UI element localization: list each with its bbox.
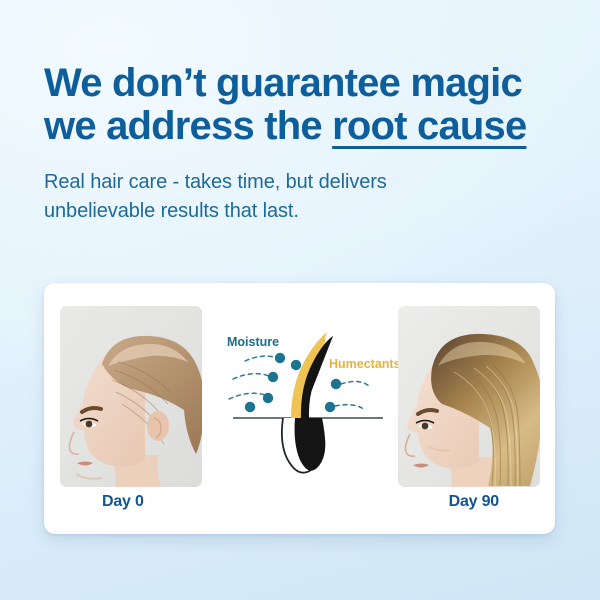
after-photo-graphic xyxy=(398,306,540,487)
after-photo-panel xyxy=(398,306,540,487)
before-photo-panel xyxy=(60,306,202,487)
before-day-label: Day 0 xyxy=(102,493,144,511)
moisture-label: Moisture xyxy=(227,335,279,349)
follicle-diagram-graphic: Moisture Humectants xyxy=(217,306,398,487)
headline-emphasis-root-cause: root cause xyxy=(332,104,526,148)
page-title: We don’t guarantee magic we address the … xyxy=(44,62,564,148)
subtitle-line-2: unbelievable results that last. xyxy=(44,197,564,226)
after-day-label: Day 90 xyxy=(449,493,499,511)
hero-section: We don’t guarantee magic we address the … xyxy=(44,62,564,226)
headline-line-2: we address the root cause xyxy=(44,105,564,148)
humectants-label: Humectants xyxy=(329,357,398,371)
before-after-card: Moisture Humectants xyxy=(44,283,555,534)
page-subtitle: Real hair care - takes time, but deliver… xyxy=(44,168,564,226)
hair-follicle-illustration: Moisture Humectants xyxy=(217,306,398,487)
headline-line-2-prefix: we address the xyxy=(44,104,332,148)
before-photo xyxy=(60,306,202,487)
humectant-dots xyxy=(325,379,341,412)
before-photo-graphic xyxy=(60,306,202,487)
headline-line-1: We don’t guarantee magic xyxy=(44,62,564,105)
subtitle-line-1: Real hair care - takes time, but deliver… xyxy=(44,168,564,197)
after-photo xyxy=(398,306,540,487)
